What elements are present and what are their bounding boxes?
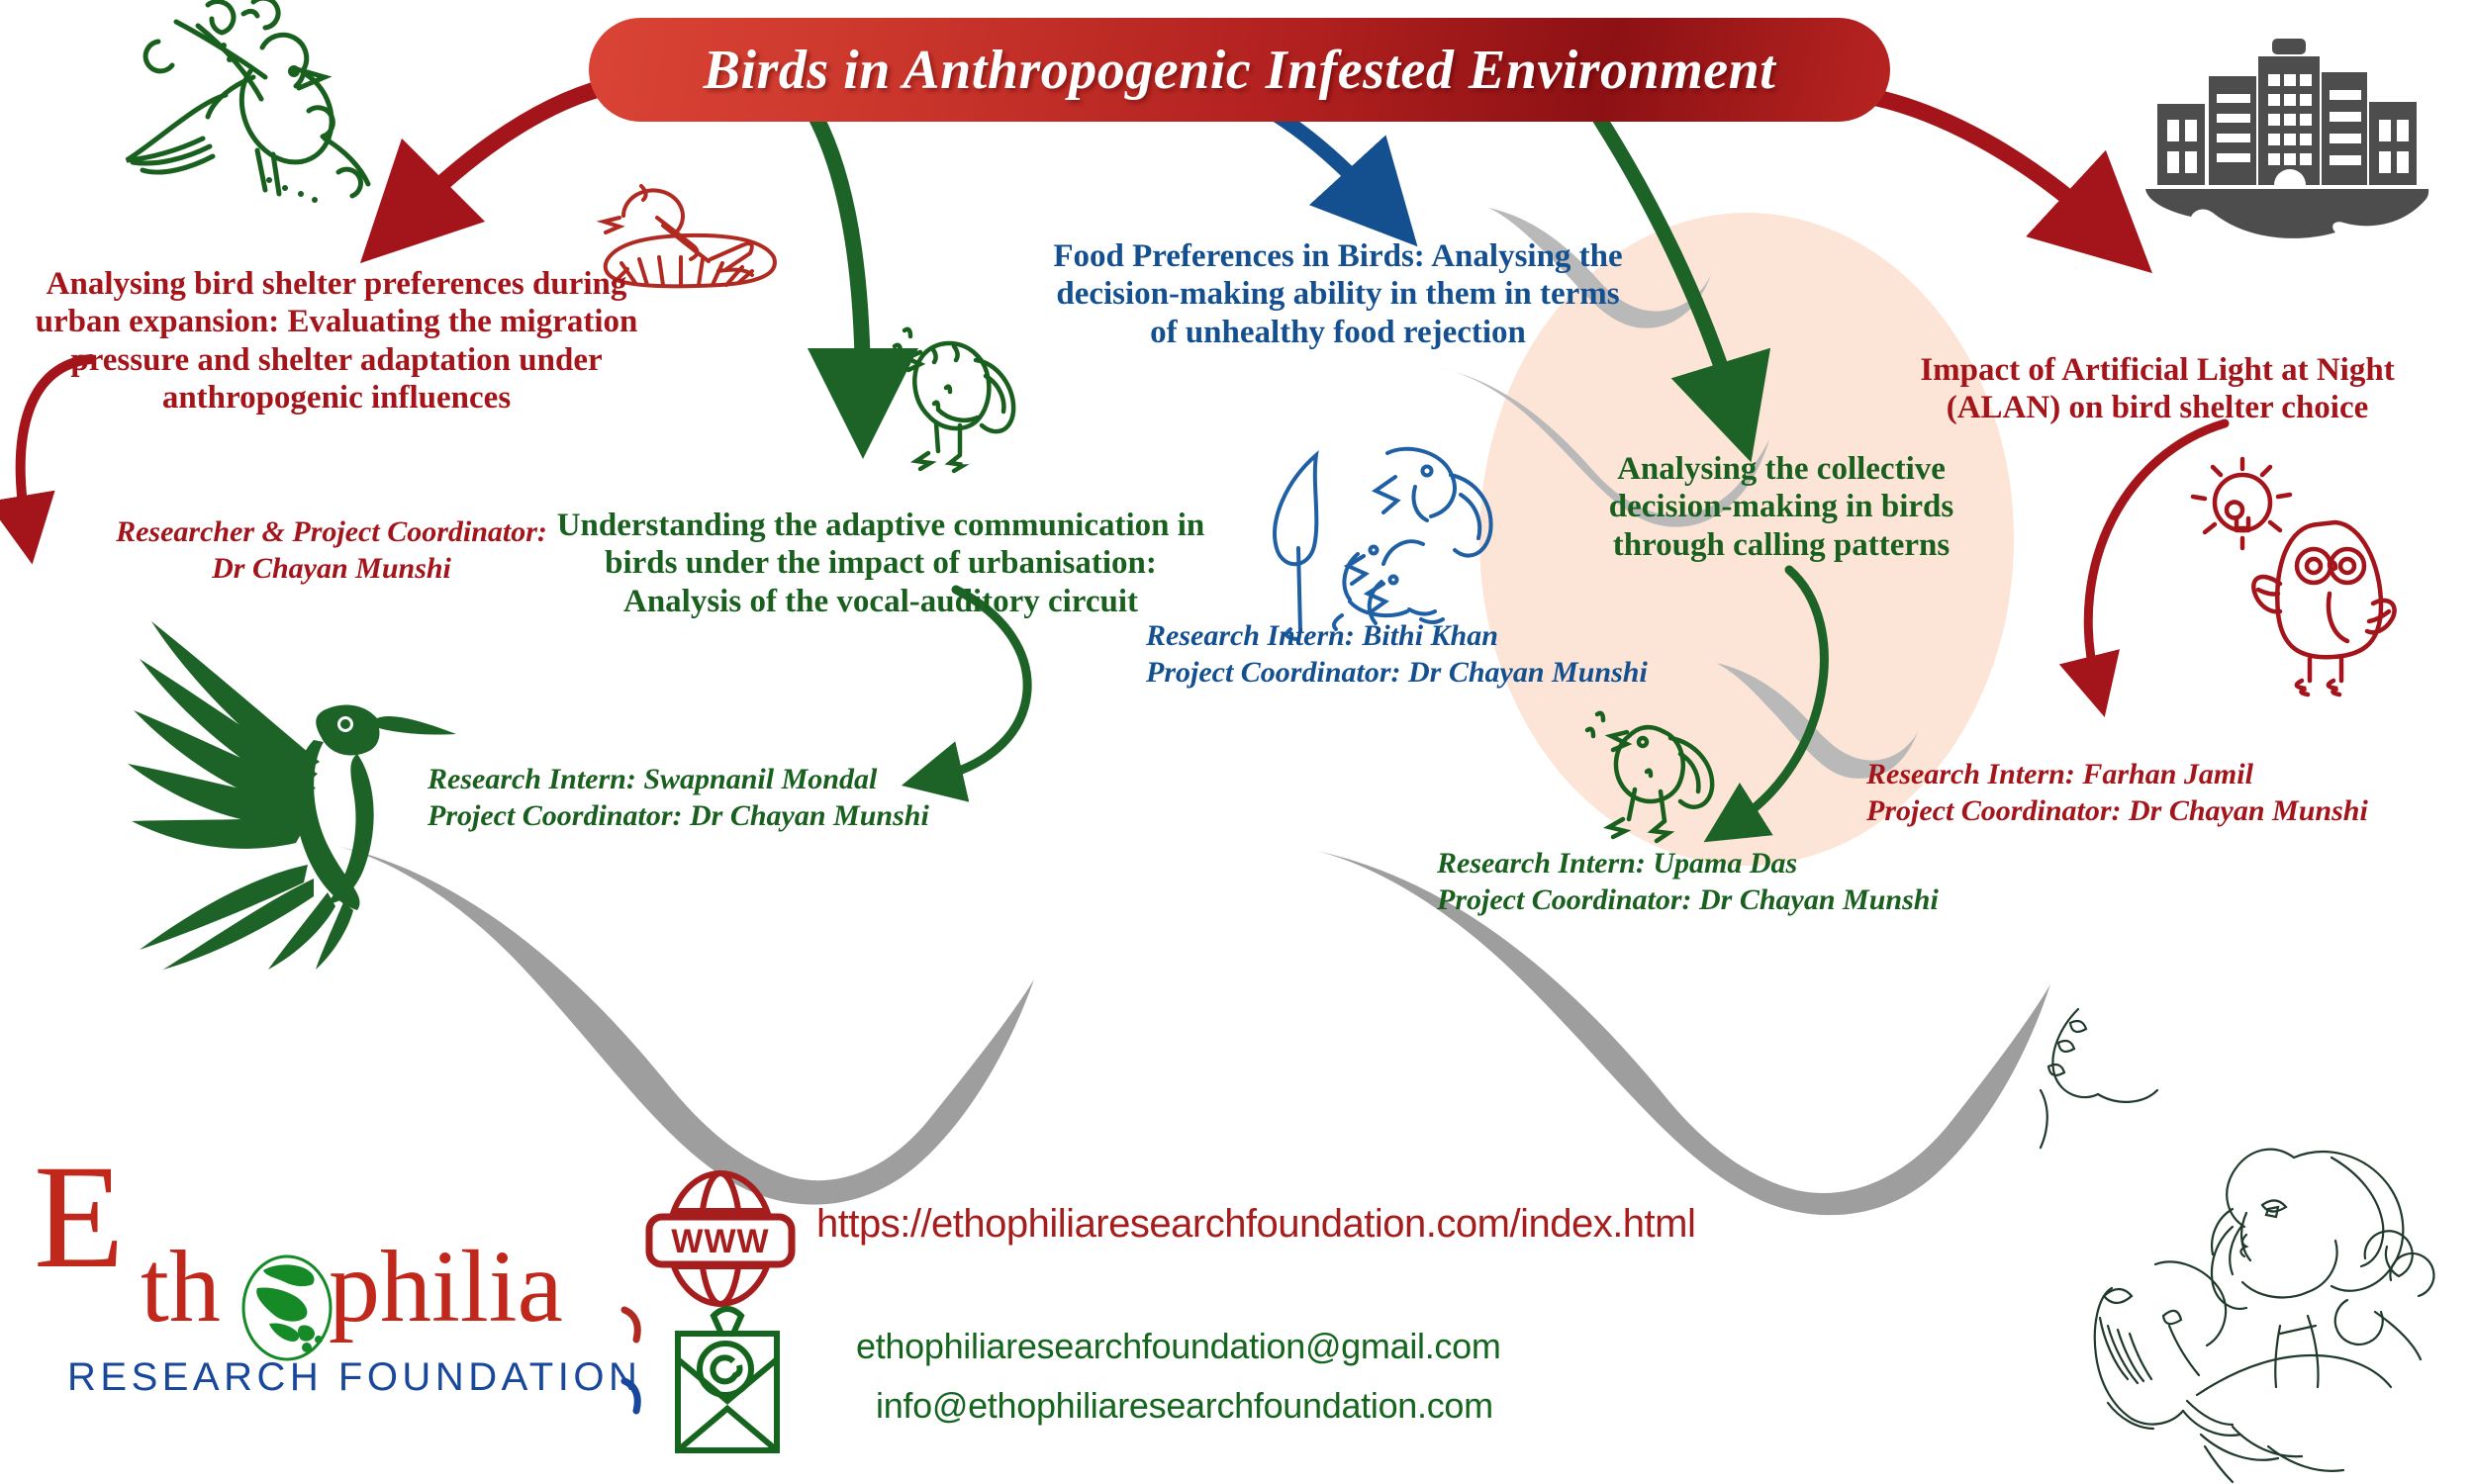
project-3-credit: Research Intern: Bithi Khan Project Coor… (1146, 618, 1648, 691)
project-1-credit: Researcher & Project Coordinator: Dr Cha… (74, 514, 589, 587)
logo-initial: E (34, 1158, 125, 1276)
organization-logo: E th philia RESEARCH FOUNDATION (20, 1158, 673, 1464)
page-title: Birds in Anthropogenic Infested Environm… (704, 39, 1776, 102)
email-envelope-icon[interactable] (648, 1304, 807, 1462)
project-1-credit-line-1: Researcher & Project Coordinator: (74, 514, 589, 551)
project-2-credit-line-2: Project Coordinator: Dr Chayan Munshi (428, 798, 929, 835)
arrow-section-5-credit (2048, 416, 2326, 732)
email-address-2[interactable]: info@ethophiliaresearchfoundation.com (876, 1385, 1493, 1427)
www-badge-label: WWW (671, 1223, 769, 1260)
project-4-credit-line-1: Research Intern: Upama Das (1437, 846, 1939, 882)
project-3-number: 3 3 (958, 420, 1077, 549)
project-2-credit-line-1: Research Intern: Swapnanil Mondal (428, 762, 929, 798)
project-2-credit: Research Intern: Swapnanil Mondal Projec… (428, 762, 929, 834)
logo-word-part-2: philia (329, 1241, 563, 1334)
poster-title-banner: Birds in Anthropogenic Infested Environm… (589, 18, 1890, 122)
project-4-headline: Analysing the collective decision-making… (1573, 450, 1989, 564)
arrow-to-project-5 (1860, 74, 2197, 262)
project-1-number: 1 1 (8, 148, 127, 277)
website-url[interactable]: https://ethophiliaresearchfoundation.com… (816, 1202, 1695, 1247)
logo-accent-mark (618, 1377, 646, 1417)
project-5-headline: Impact of Artificial Light at Night (ALA… (1880, 351, 2434, 427)
infographic-poster: Birds in Anthropogenic Infested Environm… (0, 0, 2474, 1484)
project-5-credit-line-1: Research Intern: Farhan Jamil (1866, 757, 2368, 793)
project-2-headline: Understanding the adaptive communication… (554, 507, 1207, 620)
globe-logo-icon (239, 1252, 334, 1363)
arrow-to-project-3 (1267, 109, 1445, 247)
email-address-1[interactable]: ethophiliaresearchfoundation@gmail.com (856, 1326, 1501, 1367)
project-4-credit: Research Intern: Upama Das Project Coord… (1437, 846, 1939, 918)
logo-subtitle: RESEARCH FOUNDATION (67, 1355, 641, 1400)
project-5-credit-line-2: Project Coordinator: Dr Chayan Munshi (1866, 793, 2368, 830)
project-1-headline: Analysing bird shelter preferences durin… (30, 265, 643, 417)
project-4-credit-line-2: Project Coordinator: Dr Chayan Munshi (1437, 882, 1939, 919)
project-1-number-front: 1 (8, 148, 59, 266)
arrow-to-project-4 (1583, 104, 1831, 460)
praying-woman-line-art-icon (2039, 999, 2474, 1484)
arrow-section-4-credit (1623, 564, 1860, 861)
project-1-credit-line-2: Dr Chayan Munshi (74, 551, 589, 588)
logo-accent-mark (618, 1306, 646, 1345)
globe-www-icon[interactable]: WWW (631, 1169, 809, 1308)
arrow-to-project-1 (297, 59, 623, 247)
project-5-credit: Research Intern: Farhan Jamil Project Co… (1866, 757, 2368, 829)
project-3-headline: Food Preferences in Birds: Analysing the… (1041, 237, 1635, 351)
project-3-credit-line-2: Project Coordinator: Dr Chayan Munshi (1146, 655, 1648, 692)
project-3-credit-line-1: Research Intern: Bithi Khan (1146, 618, 1648, 655)
arrow-to-project-2 (752, 99, 950, 445)
logo-word-part-1: th (141, 1241, 221, 1334)
project-3-number-front: 3 (958, 420, 1009, 538)
